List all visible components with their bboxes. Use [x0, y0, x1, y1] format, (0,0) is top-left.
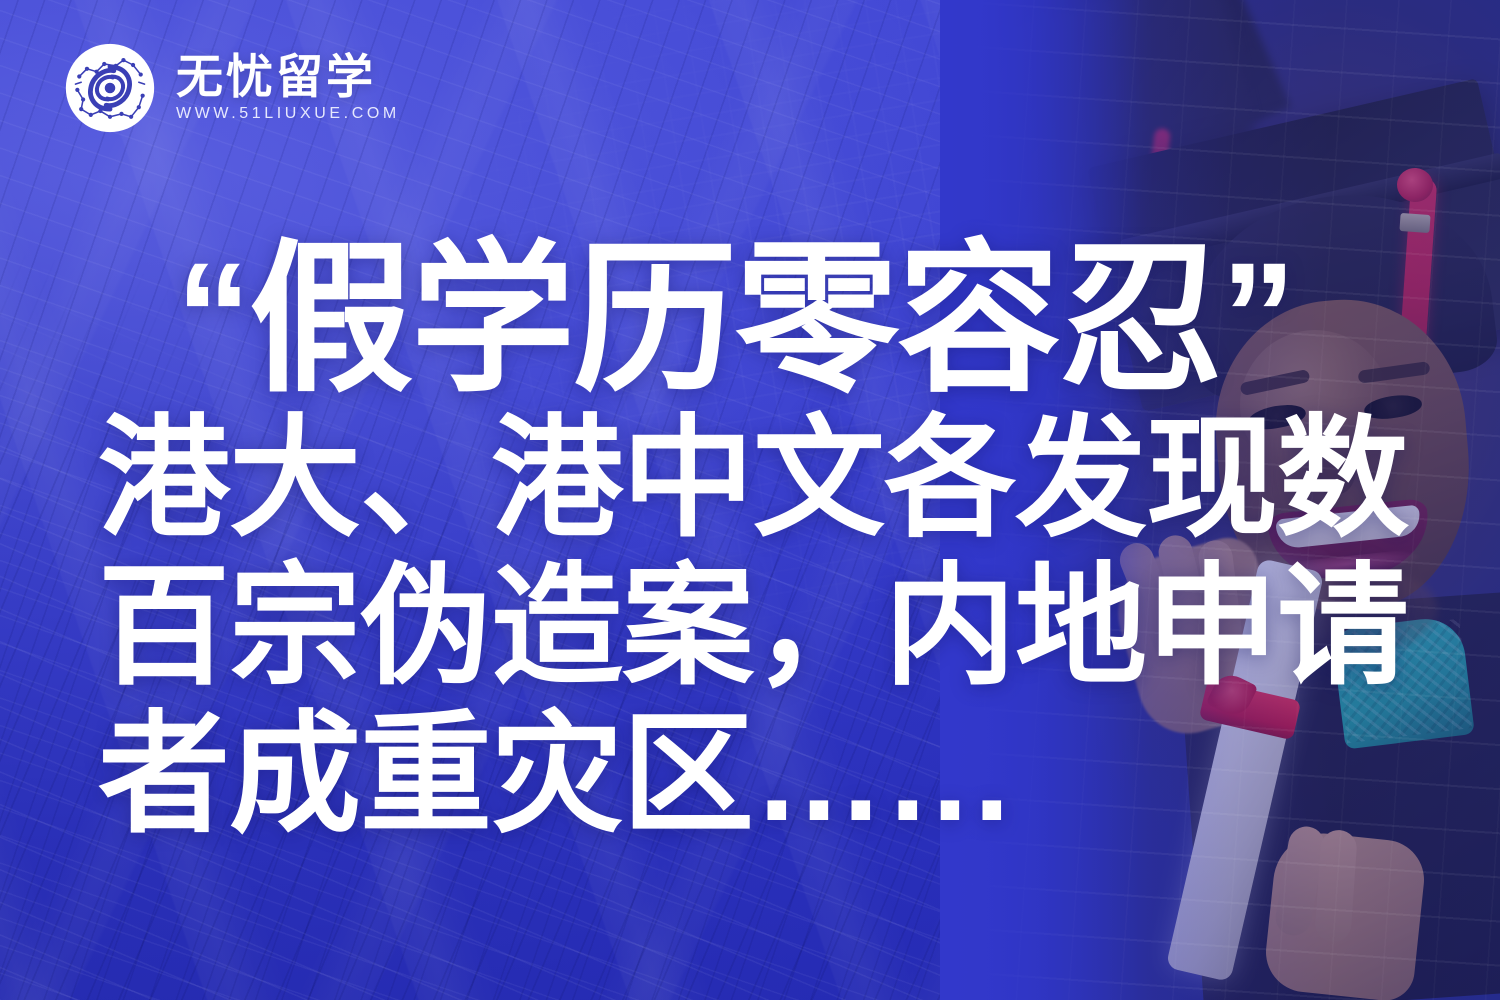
brand-url: WWW.51LIUXUE.COM — [176, 105, 400, 123]
quote-open: “ — [176, 231, 249, 399]
headline-line-1-core: 假学历零容忍 — [249, 228, 1221, 411]
headline-block: “假学历零容忍” 港大、港中文各发现数 百宗伪造案，内地申请 者成重灾区…… — [98, 236, 1338, 849]
brand-logo[interactable]: 无忧留学 WWW.51LIUXUE.COM — [62, 40, 400, 136]
quote-close: ” — [1221, 231, 1294, 399]
brand-name: 无忧留学 — [176, 53, 400, 100]
headline-line-4: 者成重灾区…… — [98, 701, 1338, 849]
headline-line-3: 百宗伪造案，内地申请 — [98, 553, 1338, 701]
headline-line-2: 港大、港中文各发现数 — [98, 405, 1338, 553]
spiral-galaxy-logo-icon — [62, 40, 158, 136]
headline-line-1: “假学历零容忍” — [176, 236, 1338, 403]
brand-logo-text: 无忧留学 WWW.51LIUXUE.COM — [176, 53, 400, 123]
poster-canvas: 无忧留学 WWW.51LIUXUE.COM “假学历零容忍” 港大、港中文各发现… — [0, 0, 1500, 1000]
